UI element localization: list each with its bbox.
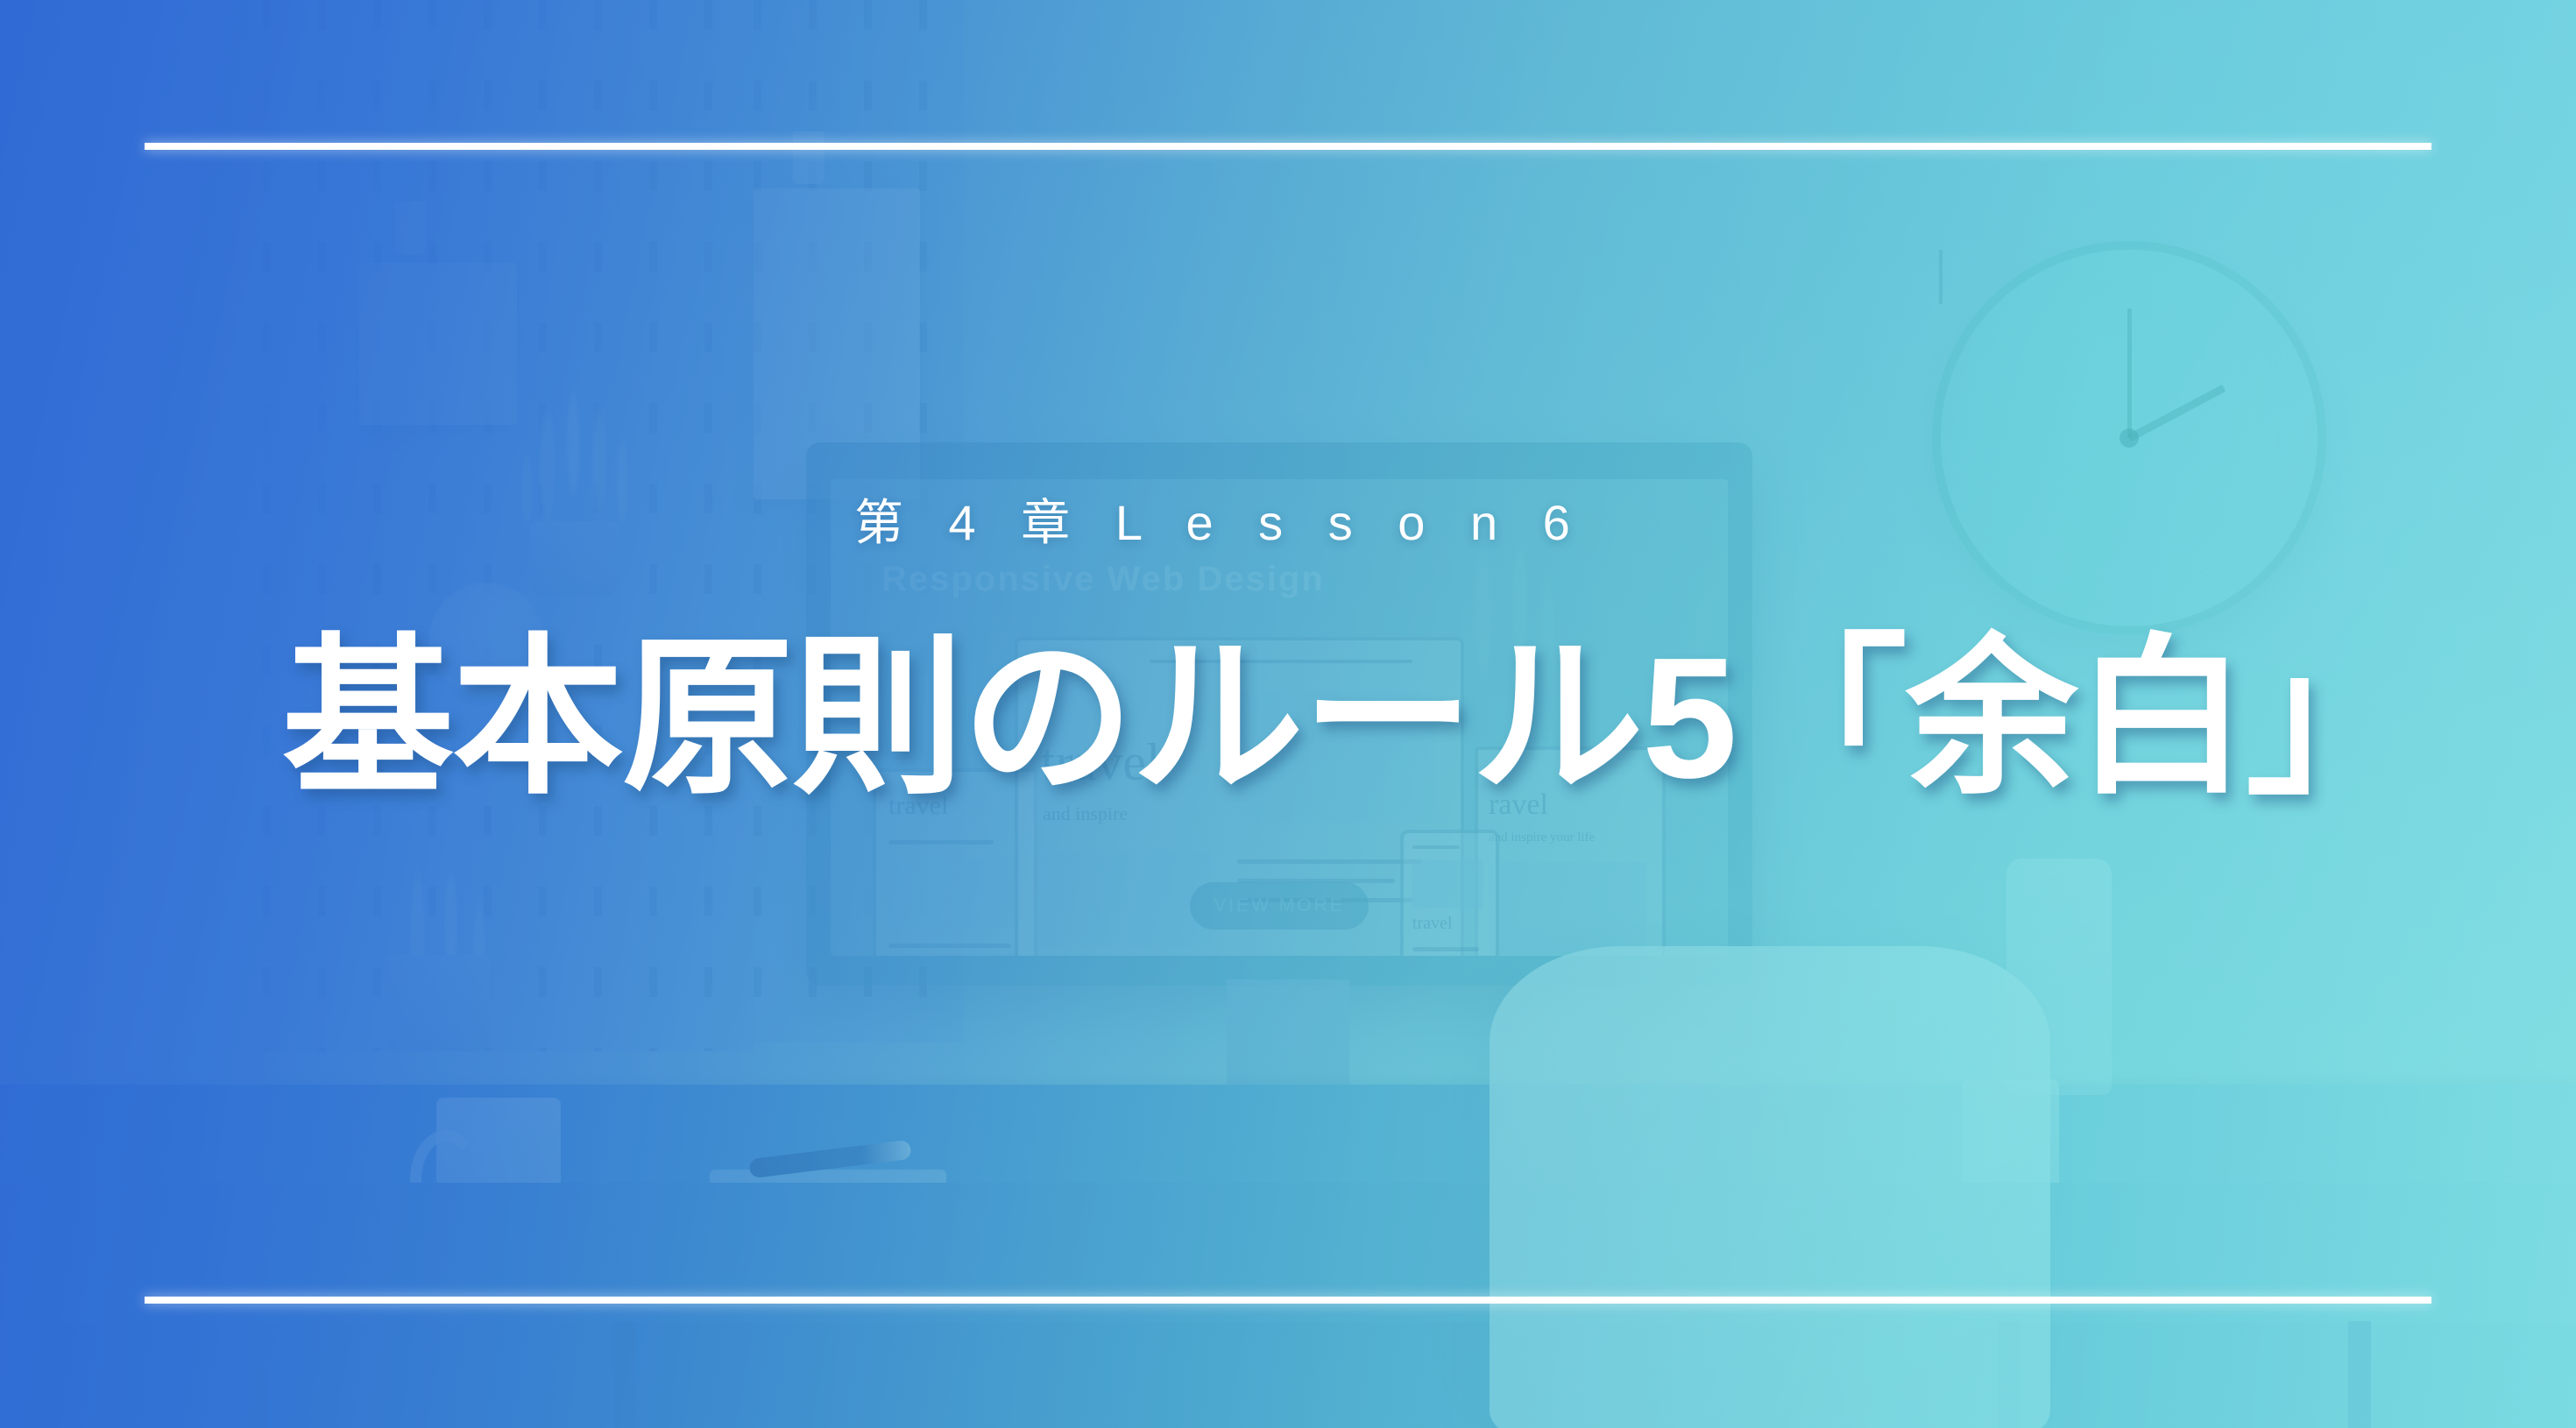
slide-title: 基本原則のルール5「余白」 [282, 627, 2416, 809]
top-divider-rule [145, 143, 2431, 150]
slide-subtitle: 第 4 章 L e s s o n 6 [854, 484, 1586, 555]
slide-canvas: Responsive Web Design travel travel and … [0, 0, 2576, 1428]
bottom-divider-rule [145, 1297, 2431, 1304]
